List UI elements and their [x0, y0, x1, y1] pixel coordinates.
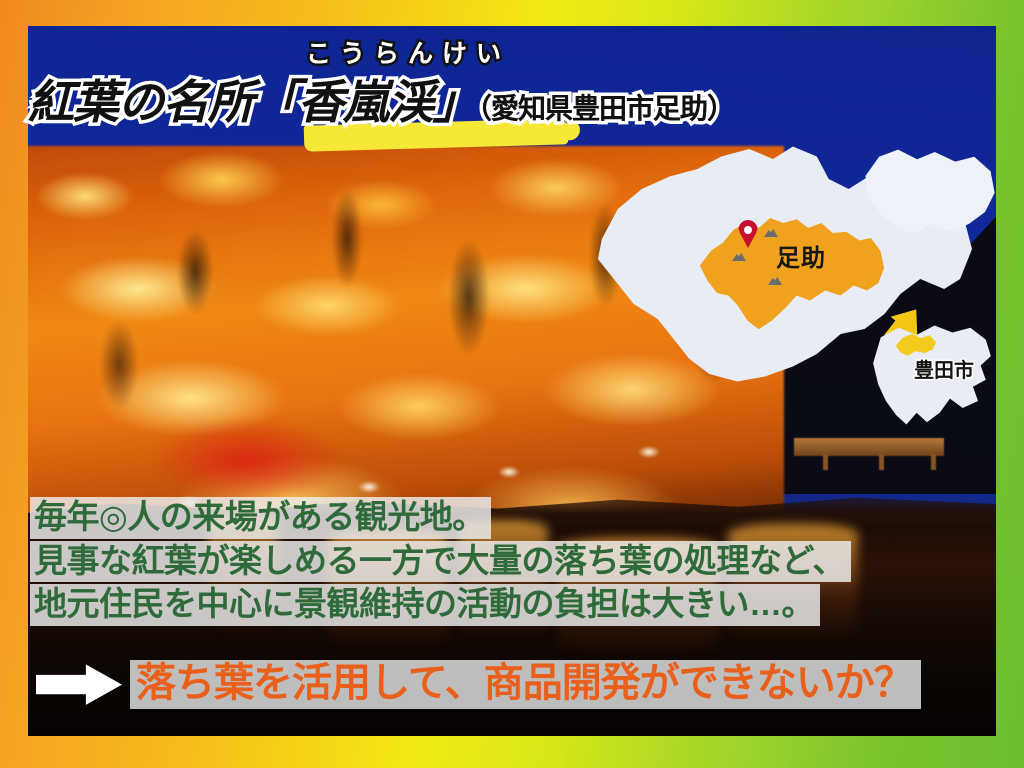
spot-lamp: [358, 481, 380, 493]
title-bracket-close: 」: [433, 76, 478, 128]
bridge-leg: [823, 454, 828, 470]
right-arrow-icon: [36, 663, 122, 707]
body-line: 毎年◎人の来場がある観光地。: [30, 497, 491, 539]
map-label-asuke: 足助: [776, 238, 826, 273]
bridge: [794, 438, 944, 456]
body-line-row: 見事な紅葉が楽しめる一方で大量の落ち葉の処理など、: [30, 541, 930, 583]
spot-lamp: [498, 466, 520, 478]
body-line: 地元住民を中心に景観維持の活動の負担は大きい…。: [30, 584, 820, 626]
title-bracket-open: 「: [253, 76, 298, 128]
callout-text: 落ち葉を活用して、商品開発ができないか？: [130, 660, 921, 709]
callout-block: 落ち葉を活用して、商品開発ができないか？: [36, 660, 921, 709]
title-place: 香嵐渓: [298, 76, 433, 128]
body-text-block: 毎年◎人の来場がある観光地。 見事な紅葉が楽しめる一方で大量の落ち葉の処理など、…: [30, 497, 930, 628]
bridge-leg: [879, 454, 884, 470]
location-map: 足助 豊田市: [560, 110, 1000, 440]
map-label-toyota: 豊田市: [914, 354, 974, 383]
spot-lamp: [638, 446, 660, 458]
bridge-leg: [931, 454, 936, 470]
title-prefix: 紅葉の名所: [28, 76, 253, 128]
body-line-row: 地元住民を中心に景観維持の活動の負担は大きい…。: [30, 584, 930, 626]
title-ruby: こうらんけい: [306, 34, 510, 70]
body-line: 見事な紅葉が楽しめる一方で大量の落ち葉の処理など、: [30, 541, 851, 583]
red-maple-accent: [148, 416, 348, 506]
slide-root: こうらんけい こうらんけい 紅葉の名所「香嵐渓」（愛知県豊田市足助） 紅葉の名所…: [0, 0, 1024, 768]
body-line-row: 毎年◎人の来場がある観光地。: [30, 497, 930, 539]
